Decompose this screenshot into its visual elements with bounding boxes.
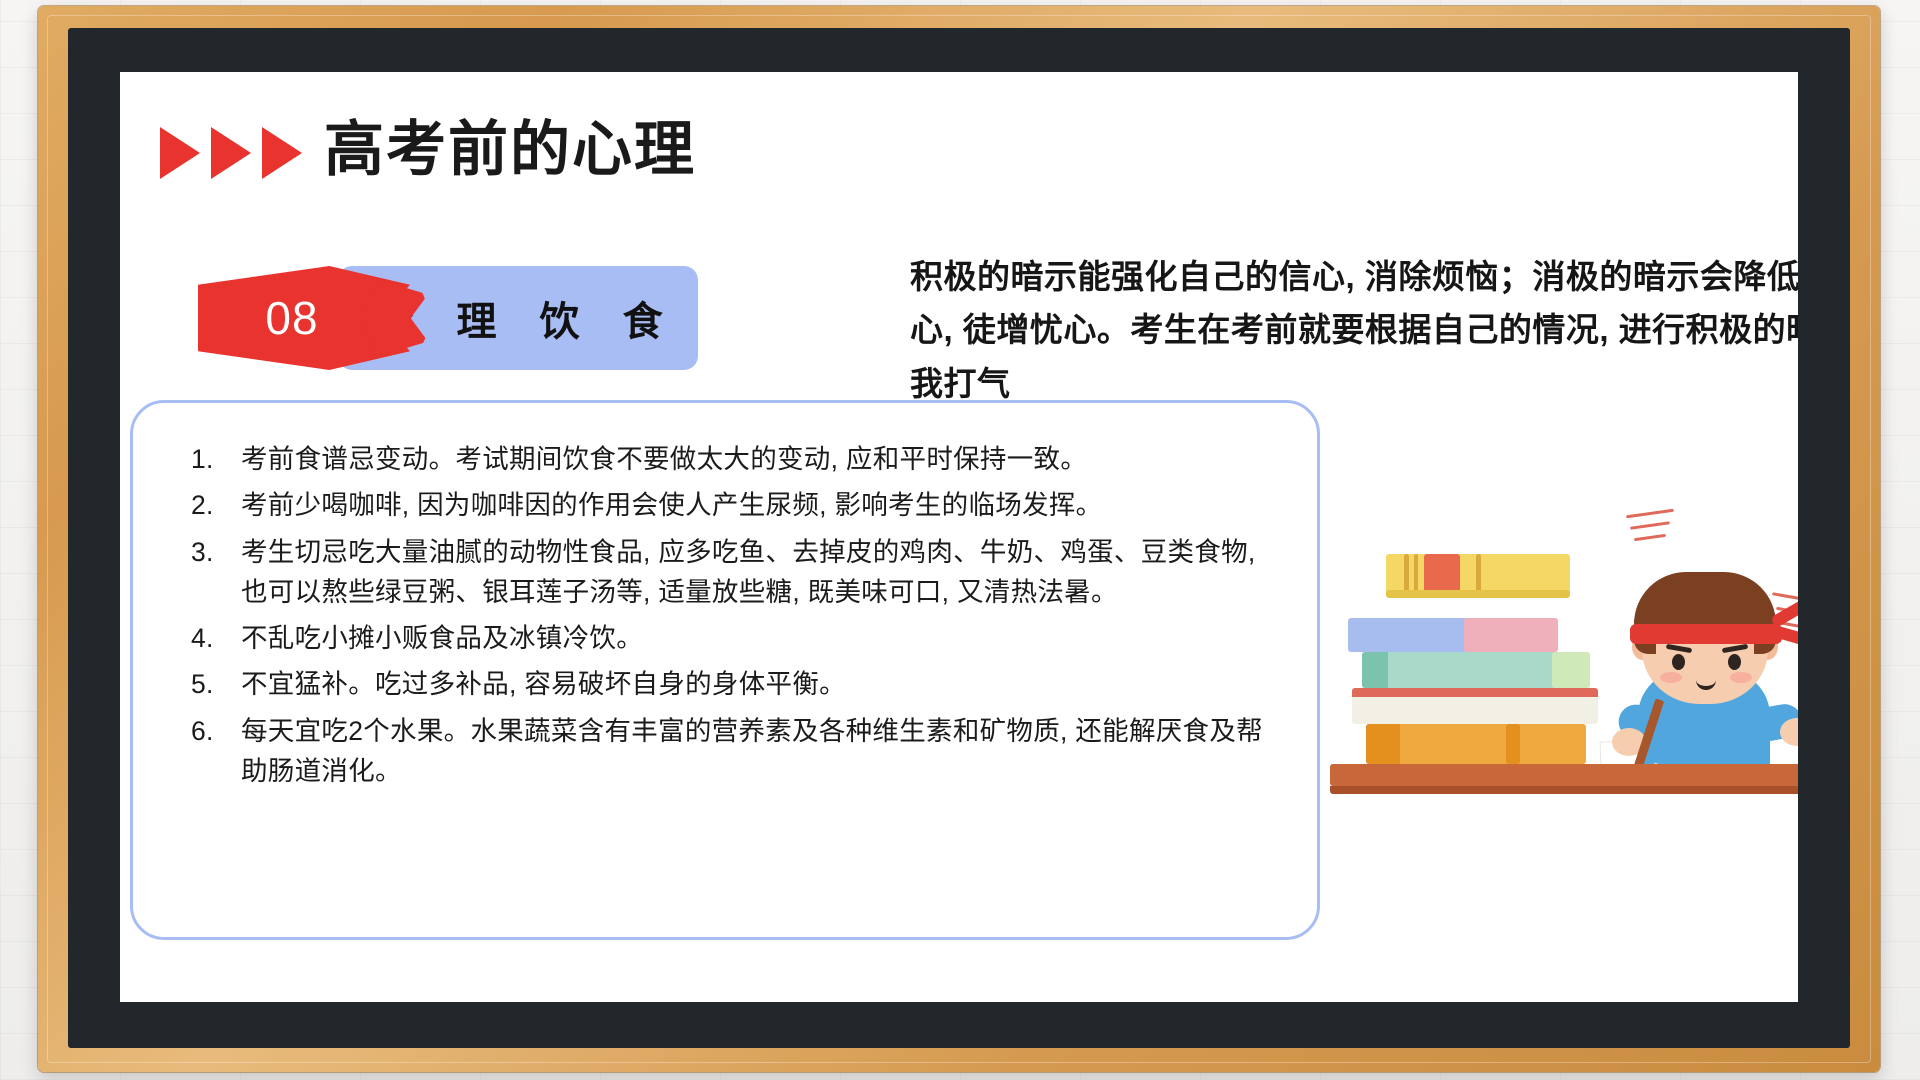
list-item: 不乱吃小摊小贩食品及冰镇冷饮。 bbox=[179, 618, 1277, 658]
tips-list: 考前食谱忌变动。考试期间饮食不要做太大的变动, 应和平时保持一致。 考前少喝咖啡… bbox=[179, 439, 1277, 791]
page-title: 高考前的心理 bbox=[324, 120, 696, 180]
section-badge: 合 理 饮 食 08 bbox=[198, 266, 698, 370]
list-item: 考前少喝咖啡, 因为咖啡因的作用会使人产生尿频, 影响考生的临场发挥。 bbox=[179, 485, 1277, 525]
list-item: 考前食谱忌变动。考试期间饮食不要做太大的变动, 应和平时保持一致。 bbox=[179, 439, 1277, 479]
board-rim: 高考前的心理 合 理 饮 食 08 积极的暗示能强化自己的信心, 消除烦恼；消极… bbox=[68, 28, 1850, 1048]
slide-canvas: 高考前的心理 合 理 饮 食 08 积极的暗示能强化自己的信心, 消除烦恼；消极… bbox=[120, 72, 1798, 1002]
boy-right-eye bbox=[1728, 654, 1741, 670]
intro-paragraph: 积极的暗示能强化自己的信心, 消除烦恼；消极的暗示会降低人的信心, 徒增忧心。考… bbox=[910, 250, 1798, 410]
tips-box: 考前食谱忌变动。考试期间饮食不要做太大的变动, 应和平时保持一致。 考前少喝咖啡… bbox=[130, 400, 1320, 940]
play-arrow-icon bbox=[211, 127, 251, 179]
play-arrow-icon bbox=[160, 127, 200, 179]
book-orange-spine bbox=[1366, 724, 1400, 764]
book-green-spine bbox=[1362, 652, 1388, 688]
section-badge-row: 合 理 饮 食 08 bbox=[198, 266, 698, 370]
list-item: 每天宜吃2个水果。水果蔬菜含有丰富的营养素及各种维生素和矿物质, 还能解厌食及帮… bbox=[179, 711, 1277, 792]
boy-headband bbox=[1630, 624, 1782, 644]
boy-left-blush bbox=[1660, 672, 1682, 683]
boy-right-blush bbox=[1730, 672, 1752, 683]
slide-header: 高考前的心理 bbox=[160, 120, 696, 180]
book-lightgreen bbox=[1552, 652, 1590, 688]
list-item: 不宜猛补。吃过多补品, 容易破坏自身的身体平衡。 bbox=[179, 664, 1277, 704]
boy-studying-illustration bbox=[1300, 502, 1798, 822]
section-badge-number: 08 bbox=[265, 291, 318, 345]
boy-left-eye bbox=[1672, 654, 1685, 670]
play-arrow-icon bbox=[262, 127, 302, 179]
desk-surface bbox=[1330, 764, 1798, 786]
wooden-frame: 高考前的心理 合 理 饮 食 08 积极的暗示能强化自己的信心, 消除烦恼；消极… bbox=[38, 6, 1880, 1072]
book-pink bbox=[1464, 618, 1558, 652]
book-orange-band bbox=[1506, 724, 1520, 764]
list-item: 考生切忌吃大量油腻的动物性食品, 应多吃鱼、去掉皮的鸡肉、牛奶、鸡蛋、豆类食物,… bbox=[179, 532, 1277, 613]
floating-note-icon bbox=[1622, 506, 1688, 550]
book-shadow bbox=[1386, 590, 1570, 598]
triple-arrow-icon-group bbox=[160, 127, 302, 179]
desk-edge bbox=[1330, 786, 1798, 794]
book-cream-top bbox=[1352, 688, 1598, 697]
